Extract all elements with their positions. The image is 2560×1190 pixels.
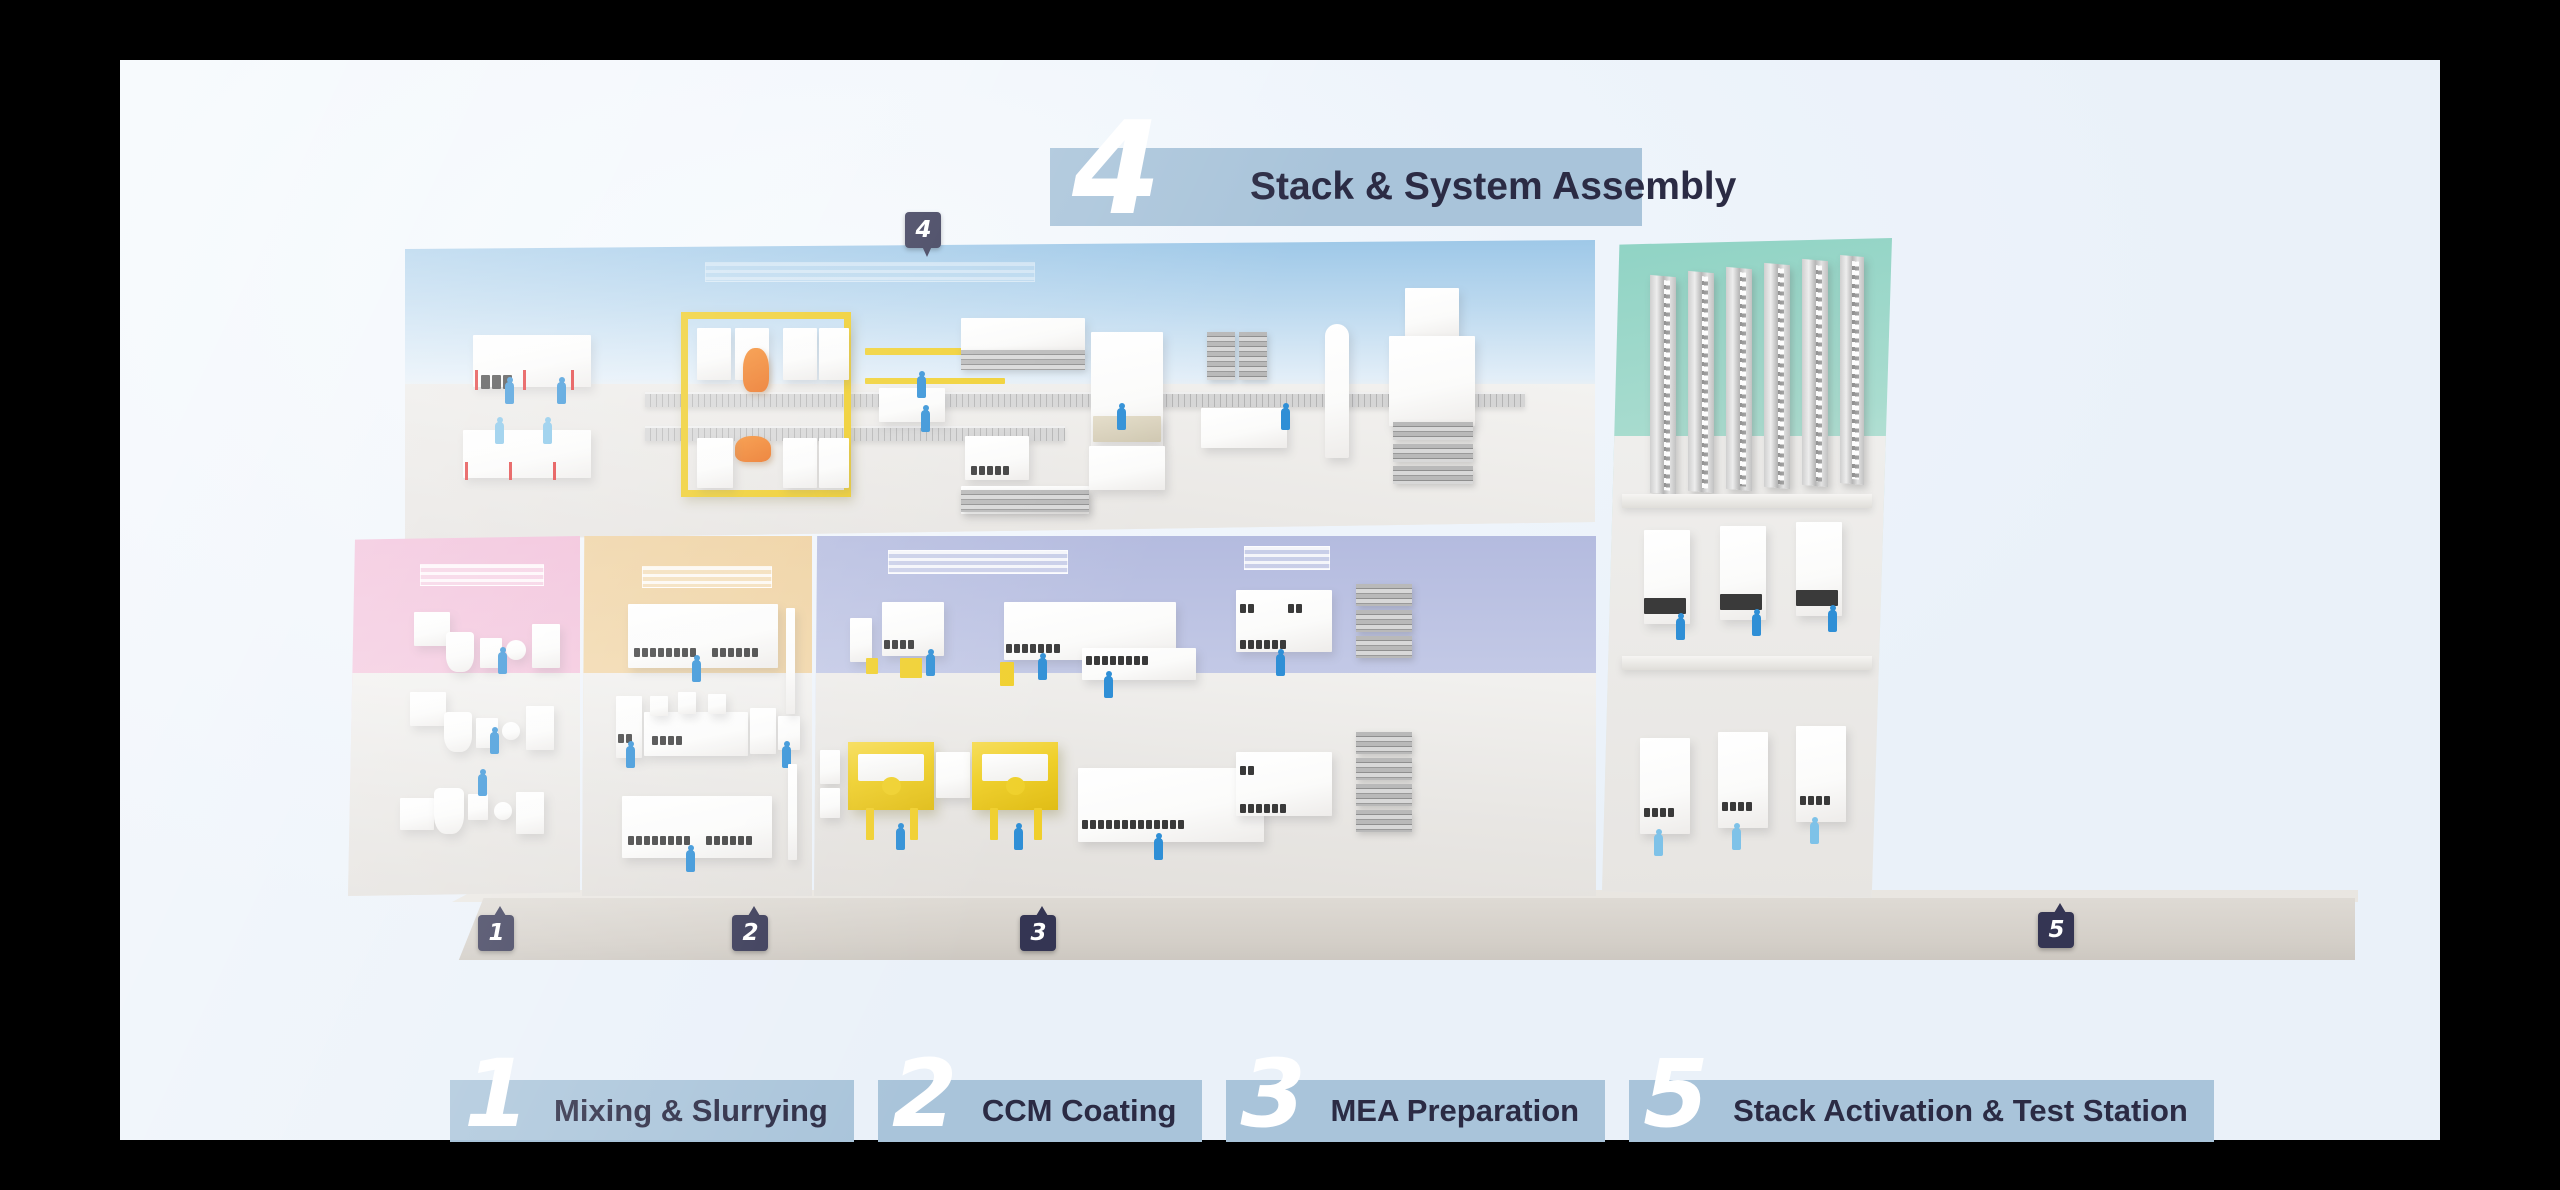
machine-accent-stripe <box>553 462 556 480</box>
machine-panel-grid <box>971 466 1009 475</box>
ceiling-vent <box>642 566 772 588</box>
mixing-tank <box>526 706 554 750</box>
cell-machine <box>819 328 849 380</box>
coating-dryer <box>750 708 776 754</box>
mixing-vessel <box>434 788 464 834</box>
activation-rack <box>1726 267 1752 491</box>
worker-figure <box>626 746 635 768</box>
station-machine <box>1201 408 1287 448</box>
cabinet-display <box>1720 594 1762 610</box>
worker-figure <box>1654 834 1663 856</box>
zone-5-stack-activation-test <box>1602 238 1892 898</box>
worker-figure <box>478 774 487 796</box>
cell-machine <box>783 438 817 488</box>
assembly-machine-block <box>463 430 591 478</box>
zone-marker-1[interactable]: 1 <box>478 915 514 951</box>
storage-rack <box>1356 758 1412 780</box>
machine-panel-grid <box>1722 802 1752 811</box>
ceiling-vent <box>1244 546 1330 570</box>
press-block-top <box>1405 288 1459 340</box>
zone-marker-5-number: 5 <box>2047 919 2064 942</box>
gantry-rail <box>865 348 973 355</box>
worker-figure <box>1104 676 1113 698</box>
title-badge: 4 Stack & System Assembly <box>1050 148 1642 226</box>
machine-panel-grid <box>706 836 752 845</box>
activation-rack <box>1688 271 1714 493</box>
worker-figure <box>917 376 926 398</box>
storage-rack <box>1393 422 1473 440</box>
zone-3-mea-preparation <box>814 536 1596 896</box>
zone-marker-2[interactable]: 2 <box>732 915 768 951</box>
machine-accent-stripe <box>571 370 574 390</box>
test-station-cabinet <box>1796 726 1846 822</box>
press-knob <box>1006 777 1025 795</box>
legend-item-2-number: 2 <box>892 1058 955 1131</box>
agitator <box>502 722 520 740</box>
machine-panel-grid <box>712 648 758 657</box>
mixing-vessel <box>468 794 488 820</box>
screenshot-root: 4 Stack & System Assembly <box>0 0 2560 1190</box>
machine-accent-stripe <box>475 370 478 390</box>
zone-marker-4[interactable]: 4 <box>905 212 941 248</box>
worker-figure <box>1828 610 1837 632</box>
agitator <box>506 640 526 660</box>
worker-figure <box>490 732 499 754</box>
worker-figure <box>495 422 504 444</box>
legend-item-3-number: 3 <box>1240 1058 1303 1131</box>
test-station-cabinet <box>1718 732 1768 828</box>
worker-figure <box>896 828 905 850</box>
storage-rack <box>1356 610 1412 632</box>
worker-figure <box>498 652 507 674</box>
coating-head <box>678 692 696 714</box>
machine-panel-grid <box>1006 644 1060 653</box>
legend: 1 Mixing & Slurrying 2 CCM Coating 3 MEA… <box>450 1080 2214 1142</box>
press-knob <box>882 777 901 795</box>
activation-rack <box>1764 263 1790 489</box>
transfer-cart <box>900 658 922 678</box>
hot-press-machine <box>972 742 1058 810</box>
wall-duct <box>786 608 795 714</box>
robot-arm <box>743 348 769 392</box>
worker-figure <box>1117 408 1126 430</box>
station-machine <box>879 388 945 422</box>
worker-figure <box>1732 828 1741 850</box>
legend-item-3[interactable]: 3 MEA Preparation <box>1226 1080 1605 1142</box>
storage-rack <box>961 350 1085 370</box>
robot-arm <box>735 436 771 462</box>
cell-machine <box>697 328 731 380</box>
machine-accent-stripe <box>523 370 526 390</box>
worker-figure <box>557 382 566 404</box>
tower-base <box>1093 416 1161 442</box>
wall-duct <box>788 764 797 860</box>
gantry-rail <box>865 378 1005 384</box>
agitator <box>494 802 512 820</box>
machine-panel-grid <box>652 736 682 745</box>
cabinet-display <box>1644 598 1686 614</box>
station-machine <box>961 318 1085 352</box>
worker-figure <box>543 422 552 444</box>
slide-canvas: 4 Stack & System Assembly <box>120 60 2440 1140</box>
machine-panel-grid <box>1240 604 1254 613</box>
transfer-cart <box>1000 662 1014 686</box>
ceiling-vent <box>420 564 544 586</box>
press-block <box>1389 336 1475 426</box>
zone-marker-4-number: 4 <box>914 219 931 242</box>
station-machine <box>1089 446 1165 490</box>
activation-rack <box>1650 275 1676 495</box>
legend-item-5[interactable]: 5 Stack Activation & Test Station <box>1629 1080 2214 1142</box>
press-transfer-unit <box>936 752 970 798</box>
zone-marker-3-number: 3 <box>1029 922 1046 945</box>
worker-figure <box>1281 408 1290 430</box>
coating-machine <box>628 604 778 668</box>
worker-figure <box>1014 828 1023 850</box>
mixing-tank <box>516 792 544 834</box>
storage-rack <box>1393 444 1473 462</box>
zone-5-shelf-divider <box>1622 494 1871 508</box>
machine-panel-grid <box>1082 820 1184 829</box>
machine-panel-grid <box>634 648 696 657</box>
cell-machine <box>819 438 849 488</box>
worker-figure <box>1752 614 1761 636</box>
storage-rack <box>1207 332 1235 380</box>
press-leg <box>990 808 998 840</box>
coating-machine <box>622 796 772 858</box>
machine-panel-grid <box>1240 640 1286 649</box>
machine-panel-grid <box>628 836 690 845</box>
storage-rack <box>1356 732 1412 754</box>
title-badge-number: 4 <box>1072 120 1159 220</box>
zone-5-shelf-divider <box>1622 656 1871 670</box>
machine-panel-grid <box>1644 808 1674 817</box>
ceiling-vent <box>705 262 1035 282</box>
legend-item-2[interactable]: 2 CCM Coating <box>878 1080 1203 1142</box>
cell-machine <box>697 438 733 488</box>
coating-head <box>708 694 726 714</box>
utility-unit <box>820 750 840 784</box>
cell-machine <box>783 328 817 380</box>
mixing-vessel <box>446 632 474 672</box>
machine-panel-grid <box>1240 766 1254 775</box>
activation-rack <box>1802 259 1828 487</box>
legend-item-1-number: 1 <box>464 1058 527 1131</box>
transfer-cart <box>866 658 878 674</box>
storage-rack <box>1393 466 1473 484</box>
zone-2-ccm-coating <box>582 536 812 896</box>
hot-press-machine <box>848 742 934 810</box>
storage-rack <box>1356 636 1412 658</box>
press-leg <box>910 808 918 840</box>
mixing-tank <box>410 692 446 726</box>
machine-panel-grid <box>1288 604 1302 613</box>
worker-figure <box>1676 618 1685 640</box>
machine-panel-grid <box>1800 796 1830 805</box>
zone-1-mixing-slurrying <box>348 536 580 896</box>
legend-item-5-number: 5 <box>1643 1058 1706 1131</box>
mixing-vessel <box>444 712 472 752</box>
storage-rack <box>1356 584 1412 606</box>
activation-rack <box>1840 255 1864 485</box>
worker-figure <box>926 654 935 676</box>
zone-marker-1-number: 1 <box>487 922 504 945</box>
worker-figure <box>1154 838 1163 860</box>
slim-tower <box>1325 324 1349 458</box>
press-leg <box>866 808 874 840</box>
machine-accent-stripe <box>465 462 468 480</box>
coating-line <box>644 712 748 756</box>
page-title: Stack & System Assembly <box>1250 165 1736 209</box>
worker-figure <box>921 410 930 432</box>
zone-marker-2-number: 2 <box>741 922 758 945</box>
legend-item-5-label: Stack Activation & Test Station <box>1629 1093 2214 1129</box>
test-station-cabinet <box>1640 738 1690 834</box>
machine-accent-stripe <box>509 462 512 480</box>
press-leg <box>1034 808 1042 840</box>
storage-rack <box>961 490 1089 512</box>
worker-figure <box>1810 822 1819 844</box>
mea-feeder <box>850 618 872 662</box>
coating-head <box>650 696 668 716</box>
machine-panel-grid <box>1086 656 1148 665</box>
zone-marker-3[interactable]: 3 <box>1020 915 1056 951</box>
storage-rack <box>1356 784 1412 806</box>
zone-4-stack-system-assembly <box>405 240 1595 540</box>
worker-figure <box>686 850 695 872</box>
worker-figure <box>1038 658 1047 680</box>
zone-marker-5[interactable]: 5 <box>2038 912 2074 948</box>
storage-rack <box>1239 332 1267 380</box>
mixing-tank <box>400 798 434 830</box>
worker-figure <box>692 660 701 682</box>
machine-panel-grid <box>884 640 914 649</box>
mixing-tank <box>414 612 450 646</box>
ceiling-vent <box>888 550 1068 574</box>
cabinet-display <box>1796 590 1838 606</box>
utility-unit <box>820 788 840 818</box>
worker-figure <box>505 382 514 404</box>
storage-rack <box>1356 810 1412 832</box>
worker-figure <box>1276 654 1285 676</box>
machine-panel-grid <box>1240 804 1286 813</box>
mixing-tank <box>532 624 560 668</box>
factory-floorplan: 1 2 3 4 5 <box>320 240 2390 1040</box>
legend-item-1[interactable]: 1 Mixing & Slurrying <box>450 1080 854 1142</box>
